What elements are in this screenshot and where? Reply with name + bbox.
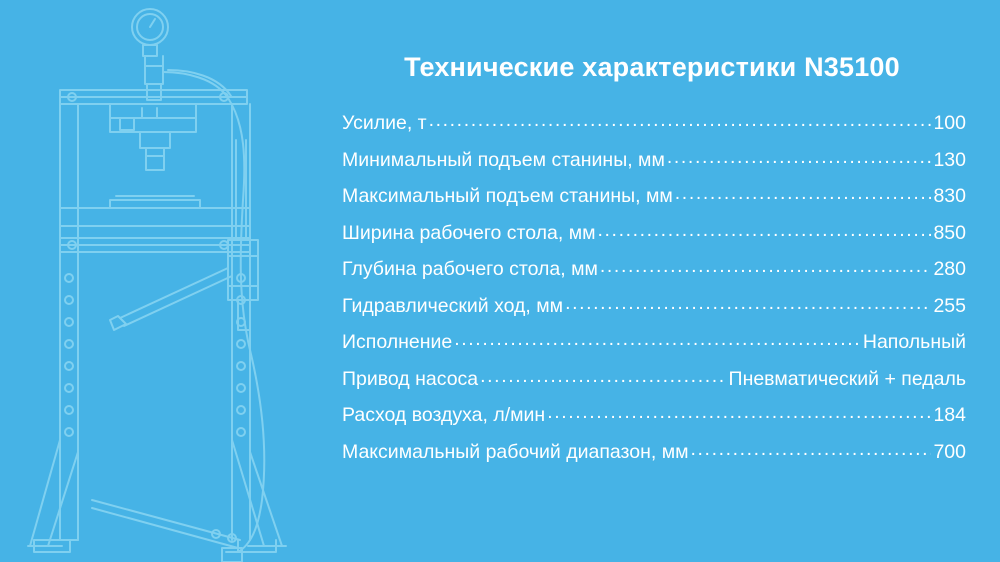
spec-label: Ширина рабочего стола, мм xyxy=(342,222,596,245)
leader-dots: ........................................… xyxy=(565,292,931,315)
spec-label: Привод насоса xyxy=(342,368,478,391)
spec-label: Максимальный рабочий диапазон, мм xyxy=(342,441,689,464)
spec-value: Пневматический + педаль xyxy=(729,368,966,391)
spec-value: 700 xyxy=(933,441,966,464)
spec-value: 830 xyxy=(933,185,966,208)
spec-row: Расход воздуха, л/мин ..................… xyxy=(342,404,966,441)
spec-label: Минимальный подъем станины, мм xyxy=(342,149,665,172)
spec-label: Усилие, т xyxy=(342,112,427,135)
leader-dots: ........................................… xyxy=(675,182,932,205)
spec-row: Усилие, т ..............................… xyxy=(342,112,966,149)
spec-row: Ширина рабочего стола, мм ..............… xyxy=(342,222,966,259)
leader-dots: ........................................… xyxy=(598,219,932,242)
spec-label: Глубина рабочего стола, мм xyxy=(342,258,598,281)
spec-value: 255 xyxy=(933,295,966,318)
spec-value: 850 xyxy=(933,222,966,245)
leader-dots: ........................................… xyxy=(429,109,932,132)
page-title: Технические характеристики N35100 xyxy=(340,52,964,83)
spec-label: Расход воздуха, л/мин xyxy=(342,404,545,427)
spec-row: Привод насоса ..........................… xyxy=(342,368,966,405)
spec-label: Исполнение xyxy=(342,331,452,354)
spec-value: 184 xyxy=(933,404,966,427)
spec-value: Напольный xyxy=(863,331,966,354)
spec-row: Максимальный рабочий диапазон, мм ......… xyxy=(342,441,966,478)
specs-panel: Технические характеристики N35100 Усилие… xyxy=(340,0,980,562)
spec-row: Максимальный подъем станины, мм ........… xyxy=(342,185,966,222)
spec-sheet-page: Технические характеристики N35100 Усилие… xyxy=(0,0,1000,562)
leader-dots: ........................................… xyxy=(454,328,861,351)
pressure-gauge-icon xyxy=(132,9,168,56)
spec-row: Исполнение .............................… xyxy=(342,331,966,368)
spec-row: Гидравлический ход, мм .................… xyxy=(342,295,966,332)
press-illustration xyxy=(0,0,330,562)
leader-dots: ........................................… xyxy=(691,438,932,461)
leader-dots: ........................................… xyxy=(547,401,931,424)
spec-value: 280 xyxy=(933,258,966,281)
spec-label: Максимальный подъем станины, мм xyxy=(342,185,673,208)
spec-value: 100 xyxy=(933,112,966,135)
spec-label: Гидравлический ход, мм xyxy=(342,295,563,318)
leader-dots: ........................................… xyxy=(667,146,932,169)
leader-dots: ........................................… xyxy=(480,365,726,388)
spec-list: Усилие, т ..............................… xyxy=(342,112,966,477)
spec-row: Минимальный подъем станины, мм .........… xyxy=(342,149,966,186)
spec-row: Глубина рабочего стола, мм .............… xyxy=(342,258,966,295)
leader-dots: ........................................… xyxy=(600,255,932,278)
spec-value: 130 xyxy=(933,149,966,172)
